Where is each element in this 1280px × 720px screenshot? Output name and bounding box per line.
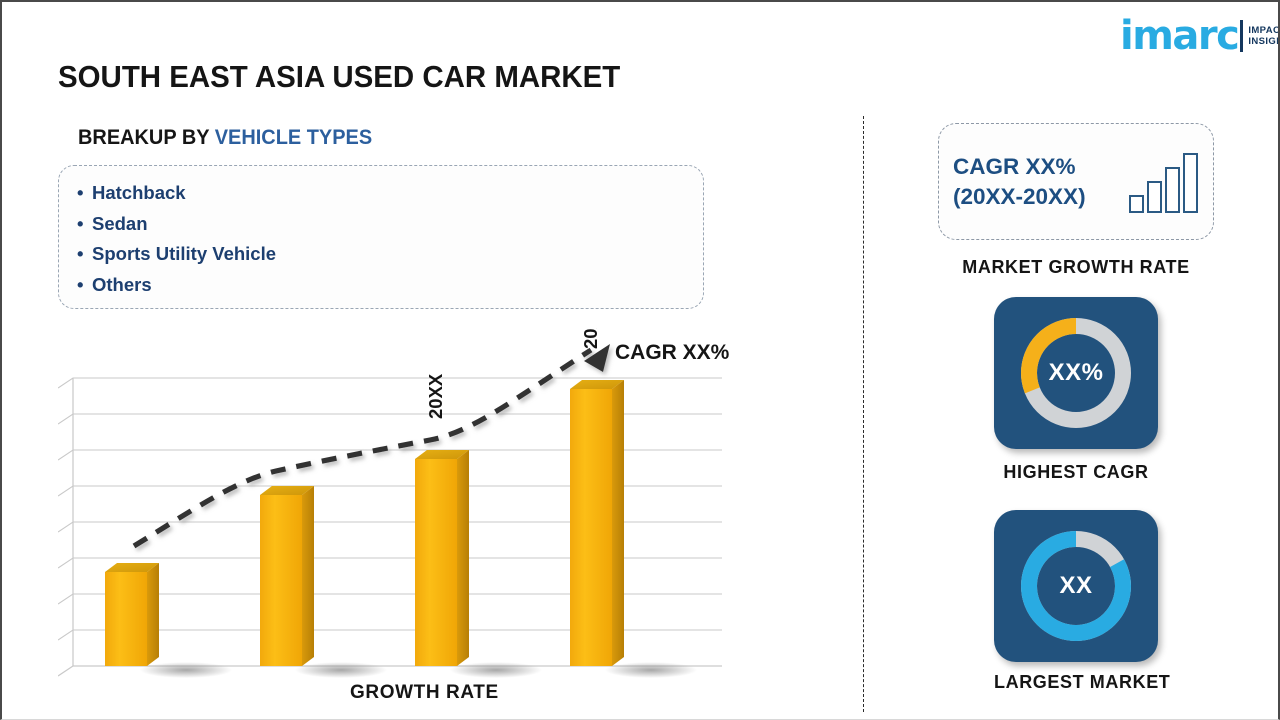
- bar-4-label: 20XX: [580, 328, 601, 349]
- segmentation-list: •Hatchback •Sedan •Sports Utility Vehicl…: [77, 178, 703, 300]
- subtitle-prefix: BREAKUP BY: [78, 126, 215, 149]
- bullet-icon: •: [77, 209, 92, 240]
- chart-cagr-callout: CAGR XX%: [615, 341, 729, 365]
- chart-svg: 20XX 20XX: [58, 328, 758, 718]
- list-item: •Others: [77, 270, 703, 301]
- list-item-label: Others: [92, 274, 152, 295]
- logo-divider: [1240, 20, 1243, 52]
- largest-market-card: XX: [994, 510, 1158, 662]
- page-title: SOUTH EAST ASIA USED CAR MARKET: [58, 59, 620, 95]
- growth-card-line2: (20XX-20XX): [953, 182, 1127, 212]
- growth-card-text: CAGR XX% (20XX-20XX): [953, 152, 1127, 212]
- largest-market-label: LARGEST MARKET: [994, 672, 1158, 693]
- largest-market-value: XX: [1059, 572, 1092, 600]
- list-item: •Hatchback: [77, 178, 703, 209]
- list-item-label: Sports Utility Vehicle: [92, 243, 276, 264]
- bullet-icon: •: [77, 178, 92, 209]
- logo-tagline-line1: IMPACTFUL: [1248, 25, 1280, 36]
- segmentation-box: •Hatchback •Sedan •Sports Utility Vehicl…: [58, 165, 704, 309]
- list-item-label: Sedan: [92, 213, 148, 234]
- bar-2: [260, 486, 314, 666]
- subtitle-highlight: VEHICLE TYPES: [215, 126, 372, 149]
- bullet-icon: •: [77, 270, 92, 301]
- growth-bar-chart: 20XX 20XX CAGR XX% GROWTH RATE: [58, 328, 758, 718]
- list-item-label: Hatchback: [92, 182, 186, 203]
- chart-trendline: [134, 344, 610, 546]
- bar-3: 20XX: [415, 373, 469, 666]
- highest-cagr-value: XX%: [1049, 359, 1104, 387]
- highest-cagr-card: XX%: [994, 297, 1158, 449]
- bar-3-label: 20XX: [425, 373, 446, 419]
- list-item: •Sedan: [77, 209, 703, 240]
- market-growth-rate-card: CAGR XX% (20XX-20XX): [938, 123, 1214, 240]
- bar-chart-icon: [1129, 151, 1199, 213]
- logo-tagline-line2: INSIGHTS: [1248, 36, 1280, 47]
- list-item: •Sports Utility Vehicle: [77, 239, 703, 270]
- imarc-logo: imarc IMPACTFUL INSIGHTS: [1120, 16, 1280, 56]
- market-growth-rate-label: MARKET GROWTH RATE: [938, 257, 1214, 278]
- chart-xaxis-label: GROWTH RATE: [350, 682, 499, 704]
- logo-tagline: IMPACTFUL INSIGHTS: [1248, 25, 1280, 47]
- bar-4: 20XX: [570, 328, 624, 666]
- subtitle: BREAKUP BY VEHICLE TYPES: [78, 126, 372, 150]
- logo-wordmark: imarc: [1120, 17, 1238, 55]
- bar-1: [105, 563, 159, 666]
- vertical-divider: [863, 116, 864, 712]
- growth-card-line1: CAGR XX%: [953, 152, 1127, 182]
- bullet-icon: •: [77, 239, 92, 270]
- highest-cagr-label: HIGHEST CAGR: [994, 462, 1158, 483]
- slide-canvas: imarc IMPACTFUL INSIGHTS SOUTH EAST ASIA…: [0, 0, 1280, 720]
